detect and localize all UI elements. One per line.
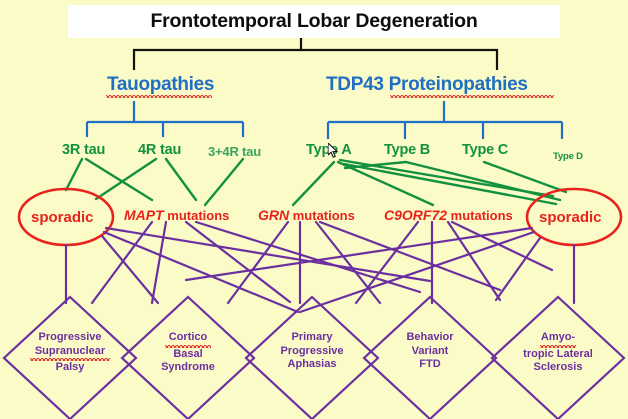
sporadic-text: sporadic <box>539 209 602 226</box>
line-3: Syndrome <box>161 361 215 373</box>
subtype-label: Type D <box>553 151 583 162</box>
subtype-label: Type B <box>384 142 430 158</box>
gene-name: MAPT <box>124 207 164 223</box>
subtype-label: 4R tau <box>138 142 181 158</box>
tau-bracket <box>87 101 243 137</box>
line-2: Supranuclear <box>35 345 105 357</box>
subtype-label: 3R tau <box>62 142 105 158</box>
gene-suffix: mutations <box>447 208 513 223</box>
branch-label-tdp43[interactable]: TDP43 Proteinopathies <box>326 75 528 94</box>
mutation-grn[interactable]: GRN mutations <box>258 208 355 222</box>
mutation-c9orf72[interactable]: C9ORF72 mutations <box>384 208 513 222</box>
line-3: FTD <box>419 358 440 370</box>
line-2: tropic Lateral <box>523 348 593 360</box>
syndrome-label-ppa[interactable]: Primary Progressive Aphasias <box>257 331 367 372</box>
gene-suffix: mutations <box>164 208 230 223</box>
syndrome-label-cbs[interactable]: Cortico Basal Syndrome <box>133 331 243 375</box>
subtype-label: 3+4R tau <box>208 144 261 159</box>
sporadic-right-label[interactable]: sporadic <box>539 209 602 226</box>
gene-name: C9ORF72 <box>384 207 447 223</box>
line-1: Behavior <box>406 331 453 343</box>
ftld-diagram-canvas: Frontotemporal Lobar Degeneration Tauopa… <box>0 0 628 419</box>
line-3: Sclerosis <box>534 361 583 373</box>
mouse-pointer-icon <box>328 143 340 159</box>
syndrome-label-als[interactable]: Amyo- tropic Lateral Sclerosis <box>498 331 618 375</box>
branch-text: Tauopathies <box>107 74 214 95</box>
sporadic-text: sporadic <box>31 209 94 226</box>
genetics-syndrome-links <box>66 222 574 312</box>
subtype-type-c[interactable]: Type C <box>462 143 508 158</box>
line-1: Cortico <box>169 331 208 343</box>
branch-text: TDP43 Proteinopathies <box>326 74 528 95</box>
title-box: Frontotemporal Lobar Degeneration <box>68 5 560 38</box>
line-2: Basal <box>173 348 202 360</box>
line-1: Progressive <box>39 331 102 343</box>
line-3: Aphasias <box>288 358 337 370</box>
line-1: Primary <box>292 331 333 343</box>
subtype-4r-tau[interactable]: 4R tau <box>138 143 181 158</box>
subtype-genetics-links <box>66 159 566 205</box>
tdp-bracket <box>328 101 562 139</box>
line-1: Amyo- <box>541 331 575 343</box>
line-3: Palsy <box>56 361 85 373</box>
line-2: Progressive <box>281 345 344 357</box>
gene-suffix: mutations <box>289 208 355 223</box>
sporadic-left-label[interactable]: sporadic <box>31 209 94 226</box>
subtype-type-d[interactable]: Type D <box>553 152 583 162</box>
gene-name: GRN <box>258 207 289 223</box>
spellcheck-underline-proteinopathies <box>390 95 554 98</box>
line-2: Variant <box>412 345 449 357</box>
mutation-mapt[interactable]: MAPT mutations <box>124 208 229 222</box>
syndrome-label-psp[interactable]: Progressive Supranuclear Palsy <box>10 331 130 375</box>
subtype-3r-tau[interactable]: 3R tau <box>62 143 105 158</box>
page-title: Frontotemporal Lobar Degeneration <box>150 10 477 33</box>
subtype-label: Type C <box>462 142 508 158</box>
spellcheck-underline-tauopathies <box>106 95 212 98</box>
subtype-3plus4r-tau[interactable]: 3+4R tau <box>208 145 261 158</box>
subtype-type-b[interactable]: Type B <box>384 143 430 158</box>
title-bracket <box>134 38 497 70</box>
syndrome-label-bvftd[interactable]: Behavior Variant FTD <box>375 331 485 372</box>
branch-label-tauopathies[interactable]: Tauopathies <box>107 75 214 94</box>
